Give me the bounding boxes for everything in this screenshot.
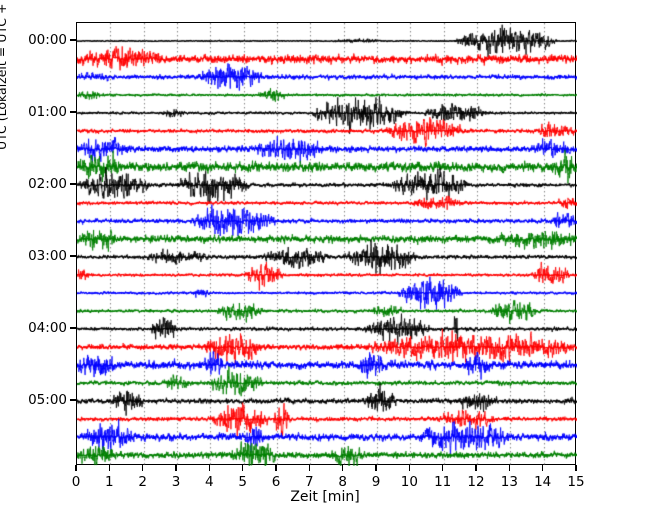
x-tick-label: 8: [338, 474, 347, 490]
x-tick-mark: [275, 465, 276, 471]
x-tick-mark: [409, 465, 410, 471]
x-tick-label: 15: [567, 474, 584, 490]
x-tick-mark: [375, 465, 376, 471]
x-axis: Zeit [min] 0123456789101112131415: [0, 0, 650, 520]
x-tick-mark: [75, 465, 76, 471]
x-tick-label: 9: [372, 474, 381, 490]
x-tick-mark: [142, 465, 143, 471]
x-tick-label: 11: [434, 474, 451, 490]
x-tick-mark: [442, 465, 443, 471]
x-tick-mark: [209, 465, 210, 471]
x-tick-mark: [242, 465, 243, 471]
x-tick-mark: [309, 465, 310, 471]
x-tick-mark: [575, 465, 576, 471]
x-tick-mark: [342, 465, 343, 471]
x-tick-label: 0: [72, 474, 81, 490]
x-tick-mark: [475, 465, 476, 471]
x-tick-label: 3: [172, 474, 181, 490]
seismogram-figure: UTC (Lokalzeit = UTC + 02:00) 00:0001:00…: [0, 0, 650, 520]
x-tick-label: 13: [501, 474, 518, 490]
x-tick-label: 4: [205, 474, 214, 490]
x-tick-mark: [542, 465, 543, 471]
x-tick-label: 1: [105, 474, 114, 490]
x-tick-label: 12: [467, 474, 484, 490]
x-tick-label: 6: [272, 474, 281, 490]
x-tick-label: 5: [238, 474, 247, 490]
x-tick-mark: [109, 465, 110, 471]
x-tick-label: 2: [138, 474, 147, 490]
x-tick-mark: [175, 465, 176, 471]
x-tick-mark: [509, 465, 510, 471]
x-tick-label: 10: [401, 474, 418, 490]
x-axis-label: Zeit [min]: [0, 489, 650, 505]
x-tick-label: 14: [534, 474, 551, 490]
x-tick-label: 7: [305, 474, 314, 490]
